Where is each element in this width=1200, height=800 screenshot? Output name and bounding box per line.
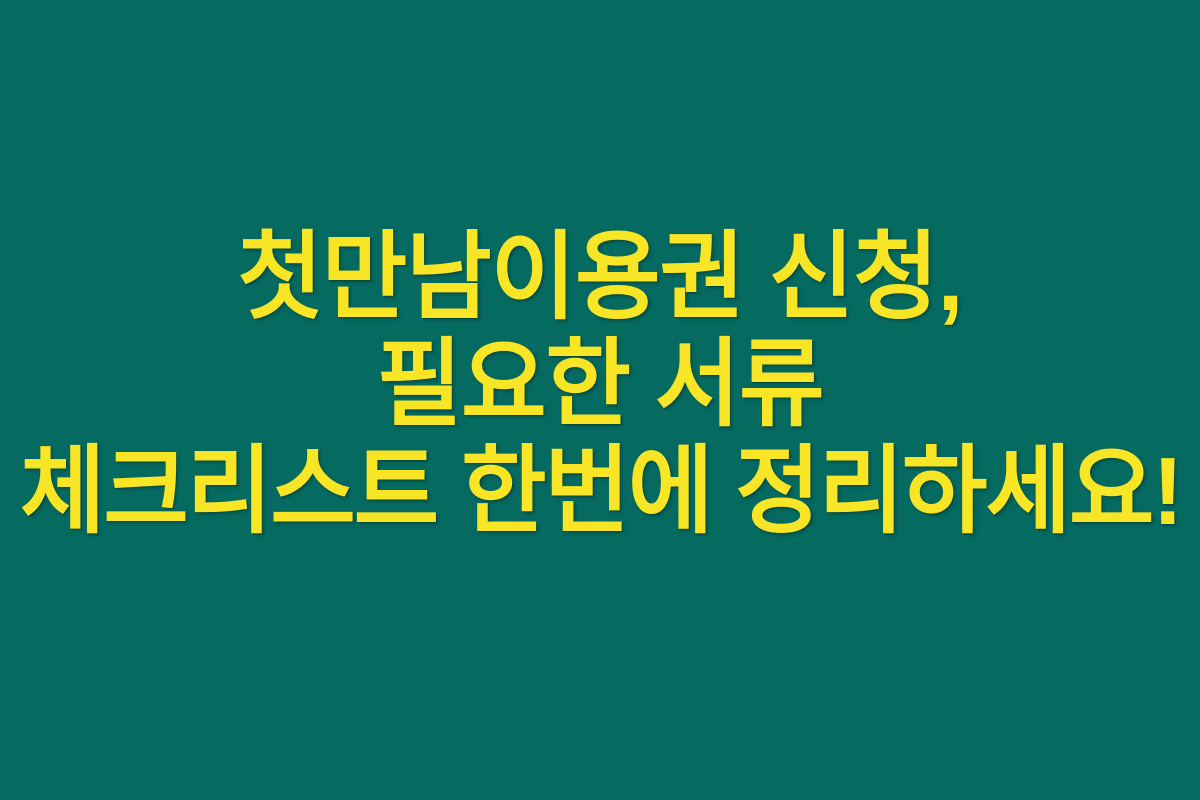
banner-canvas: 첫만남이용권 신청, 필요한 서류 체크리스트 한번에 정리하세요! — [0, 0, 1200, 800]
headline-text: 첫만남이용권 신청, 필요한 서류 체크리스트 한번에 정리하세요! — [0, 224, 1200, 545]
headline-line-2: 필요한 서류 — [377, 331, 824, 438]
headline-wrapper: 첫만남이용권 신청, 필요한 서류 체크리스트 한번에 정리하세요! — [0, 224, 1200, 545]
headline-line-1: 첫만남이용권 신청, — [238, 224, 963, 331]
headline-line-3: 체크리스트 한번에 정리하세요! — [20, 438, 1181, 545]
